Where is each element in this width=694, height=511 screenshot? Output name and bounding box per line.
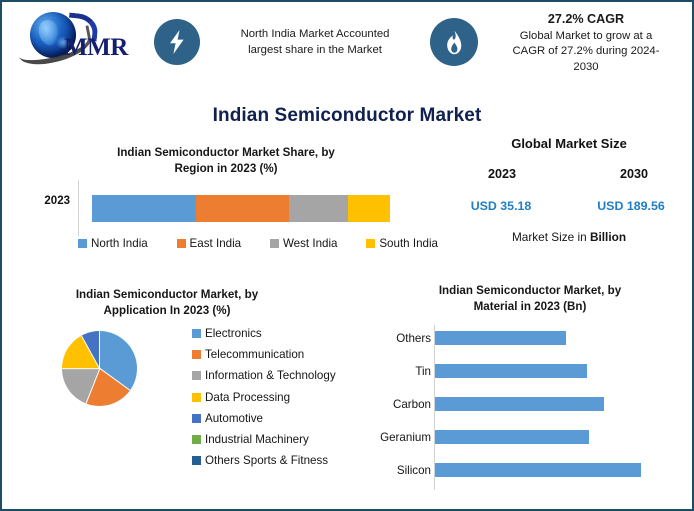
lightning-bolt-icon: [154, 19, 200, 65]
chart-title-region: Indian Semiconductor Market Share, by Re…: [16, 145, 436, 177]
legend-label: Telecommunication: [205, 348, 304, 361]
legend-swatch-icon: [192, 456, 201, 465]
legend-label: Information & Technology: [205, 369, 336, 382]
legend-swatch-icon: [78, 239, 87, 248]
legend-item-automotive[interactable]: Automotive: [192, 412, 362, 425]
logo-text: MMR: [64, 34, 128, 62]
legend-label: West India: [283, 237, 338, 250]
stacked-bar-segment-west-india: [289, 195, 349, 222]
legend-swatch-icon: [366, 239, 375, 248]
legend-item-telecommunication[interactable]: Telecommunication: [192, 348, 362, 361]
legend-item-east-india[interactable]: East India: [177, 237, 242, 250]
material-bar-others: [435, 331, 566, 345]
legend-region: North IndiaEast IndiaWest IndiaSouth Ind…: [78, 237, 438, 250]
gms-footer: Market Size in Billion: [446, 230, 692, 244]
legend-swatch-icon: [192, 414, 201, 423]
legend-label: East India: [190, 237, 242, 250]
legend-swatch-icon: [177, 239, 186, 248]
stacked-bar-segment-east-india: [196, 195, 288, 222]
pie-separator: [81, 335, 100, 369]
gms-year-2030: 2030: [586, 167, 682, 181]
legend-label: Data Processing: [205, 391, 290, 404]
pie-slice-separators: [62, 331, 137, 406]
stacked-bar-axis-line: [78, 180, 79, 236]
chart-title-application-line1: Indian Semiconductor Market, by: [22, 287, 312, 303]
stacked-bar-plot: [78, 185, 390, 229]
material-bar-label-carbon: Carbon: [341, 398, 431, 411]
legend-label: North India: [91, 237, 148, 250]
chart-title-material: Indian Semiconductor Market, by Material…: [380, 283, 680, 315]
material-bar-label-others: Others: [341, 332, 431, 345]
stacked-bar-category-label: 2023: [24, 195, 70, 207]
pie-separator: [85, 368, 100, 403]
chart-title-material-line1: Indian Semiconductor Market, by: [380, 283, 680, 299]
material-bar-row: Geranium: [434, 424, 684, 457]
chart-market-by-application: Indian Semiconductor Market, by Applicat…: [12, 287, 372, 507]
chart-title-application-line2: Application In 2023 (%): [22, 303, 312, 319]
material-bar-carbon: [435, 397, 604, 411]
pie-separator: [99, 368, 130, 391]
gms-value-2023: USD 35.18: [446, 199, 556, 213]
chart-title-material-line2: Material in 2023 (Bn): [380, 299, 680, 315]
gms-value-2030: USD 189.56: [576, 199, 686, 213]
material-bar-label-silicon: Silicon: [341, 464, 431, 477]
material-bar-row: Silicon: [434, 457, 684, 490]
cagr-line-2: CAGR of 27.2% during 2024-: [486, 44, 686, 60]
material-bar-row: Tin: [434, 358, 684, 391]
gms-footer-prefix: Market Size in: [512, 230, 590, 244]
pie-separator: [99, 331, 100, 369]
material-bar-label-tin: Tin: [341, 365, 431, 378]
chart-title-region-line2: Region in 2023 (%): [16, 161, 436, 177]
legend-label: Automotive: [205, 412, 263, 425]
material-bar-plot: OthersTinCarbonGeraniumSilicon: [434, 325, 684, 490]
legend-swatch-icon: [192, 371, 201, 380]
chart-market-share-by-region: Indian Semiconductor Market Share, by Re…: [16, 145, 436, 260]
cagr-line-3: 2030: [486, 60, 686, 76]
material-bar-label-geranium: Geranium: [341, 431, 431, 444]
material-bar-tin: [435, 364, 587, 378]
pie-separator: [62, 368, 100, 369]
badge-line-1: North India Market Accounted: [208, 27, 422, 43]
legend-label: Industrial Machinery: [205, 433, 309, 446]
legend-application: ElectronicsTelecommunicationInformation …: [192, 327, 362, 475]
page-title: Indian Semiconductor Market: [2, 105, 692, 127]
legend-label: Others Sports & Fitness: [205, 454, 328, 467]
legend-item-west-india[interactable]: West India: [270, 237, 338, 250]
header-band: MMR North India Market Accounted largest…: [2, 2, 692, 90]
legend-item-south-india[interactable]: South India: [366, 237, 438, 250]
legend-item-others-sports-fitness[interactable]: Others Sports & Fitness: [192, 454, 362, 467]
global-market-size-title: Global Market Size: [446, 136, 692, 151]
legend-swatch-icon: [192, 393, 201, 402]
legend-swatch-icon: [192, 435, 201, 444]
legend-item-industrial-machinery[interactable]: Industrial Machinery: [192, 433, 362, 446]
chart-title-region-line1: Indian Semiconductor Market Share, by: [16, 145, 436, 161]
stacked-bar-segment-north-india: [92, 195, 196, 222]
gms-year-2023: 2023: [454, 167, 550, 181]
badge-text-cagr: 27.2% CAGR Global Market to grow at a CA…: [486, 12, 686, 75]
global-market-size-panel: Global Market Size 2023 2030 USD 35.18 U…: [446, 136, 692, 254]
material-bar-geranium: [435, 430, 589, 444]
legend-swatch-icon: [270, 239, 279, 248]
legend-label: South India: [379, 237, 438, 250]
legend-item-data-processing[interactable]: Data Processing: [192, 391, 362, 404]
legend-swatch-icon: [192, 329, 201, 338]
pie-chart: [62, 331, 137, 406]
company-logo: MMR: [16, 8, 148, 70]
chart-title-application: Indian Semiconductor Market, by Applicat…: [22, 287, 312, 319]
material-bar-silicon: [435, 463, 641, 477]
flame-icon: [430, 18, 478, 66]
cagr-line-1: Global Market to grow at a: [486, 29, 686, 45]
stacked-bar-segment-south-india: [348, 195, 390, 222]
legend-item-information-technology[interactable]: Information & Technology: [192, 369, 362, 382]
gms-footer-unit: Billion: [590, 230, 626, 244]
stacked-bar: [92, 195, 390, 222]
infographic-canvas: MMR North India Market Accounted largest…: [0, 0, 694, 511]
legend-item-electronics[interactable]: Electronics: [192, 327, 362, 340]
badge-text-north-india: North India Market Accounted largest sha…: [208, 27, 422, 58]
badge-line-2: largest share in the Market: [208, 43, 422, 59]
chart-market-by-material: Indian Semiconductor Market, by Material…: [372, 283, 692, 507]
legend-swatch-icon: [192, 350, 201, 359]
cagr-headline: 27.2% CAGR: [486, 12, 686, 28]
legend-label: Electronics: [205, 327, 262, 340]
material-bar-row: Others: [434, 325, 684, 358]
legend-item-north-india[interactable]: North India: [78, 237, 148, 250]
material-bar-row: Carbon: [434, 391, 684, 424]
